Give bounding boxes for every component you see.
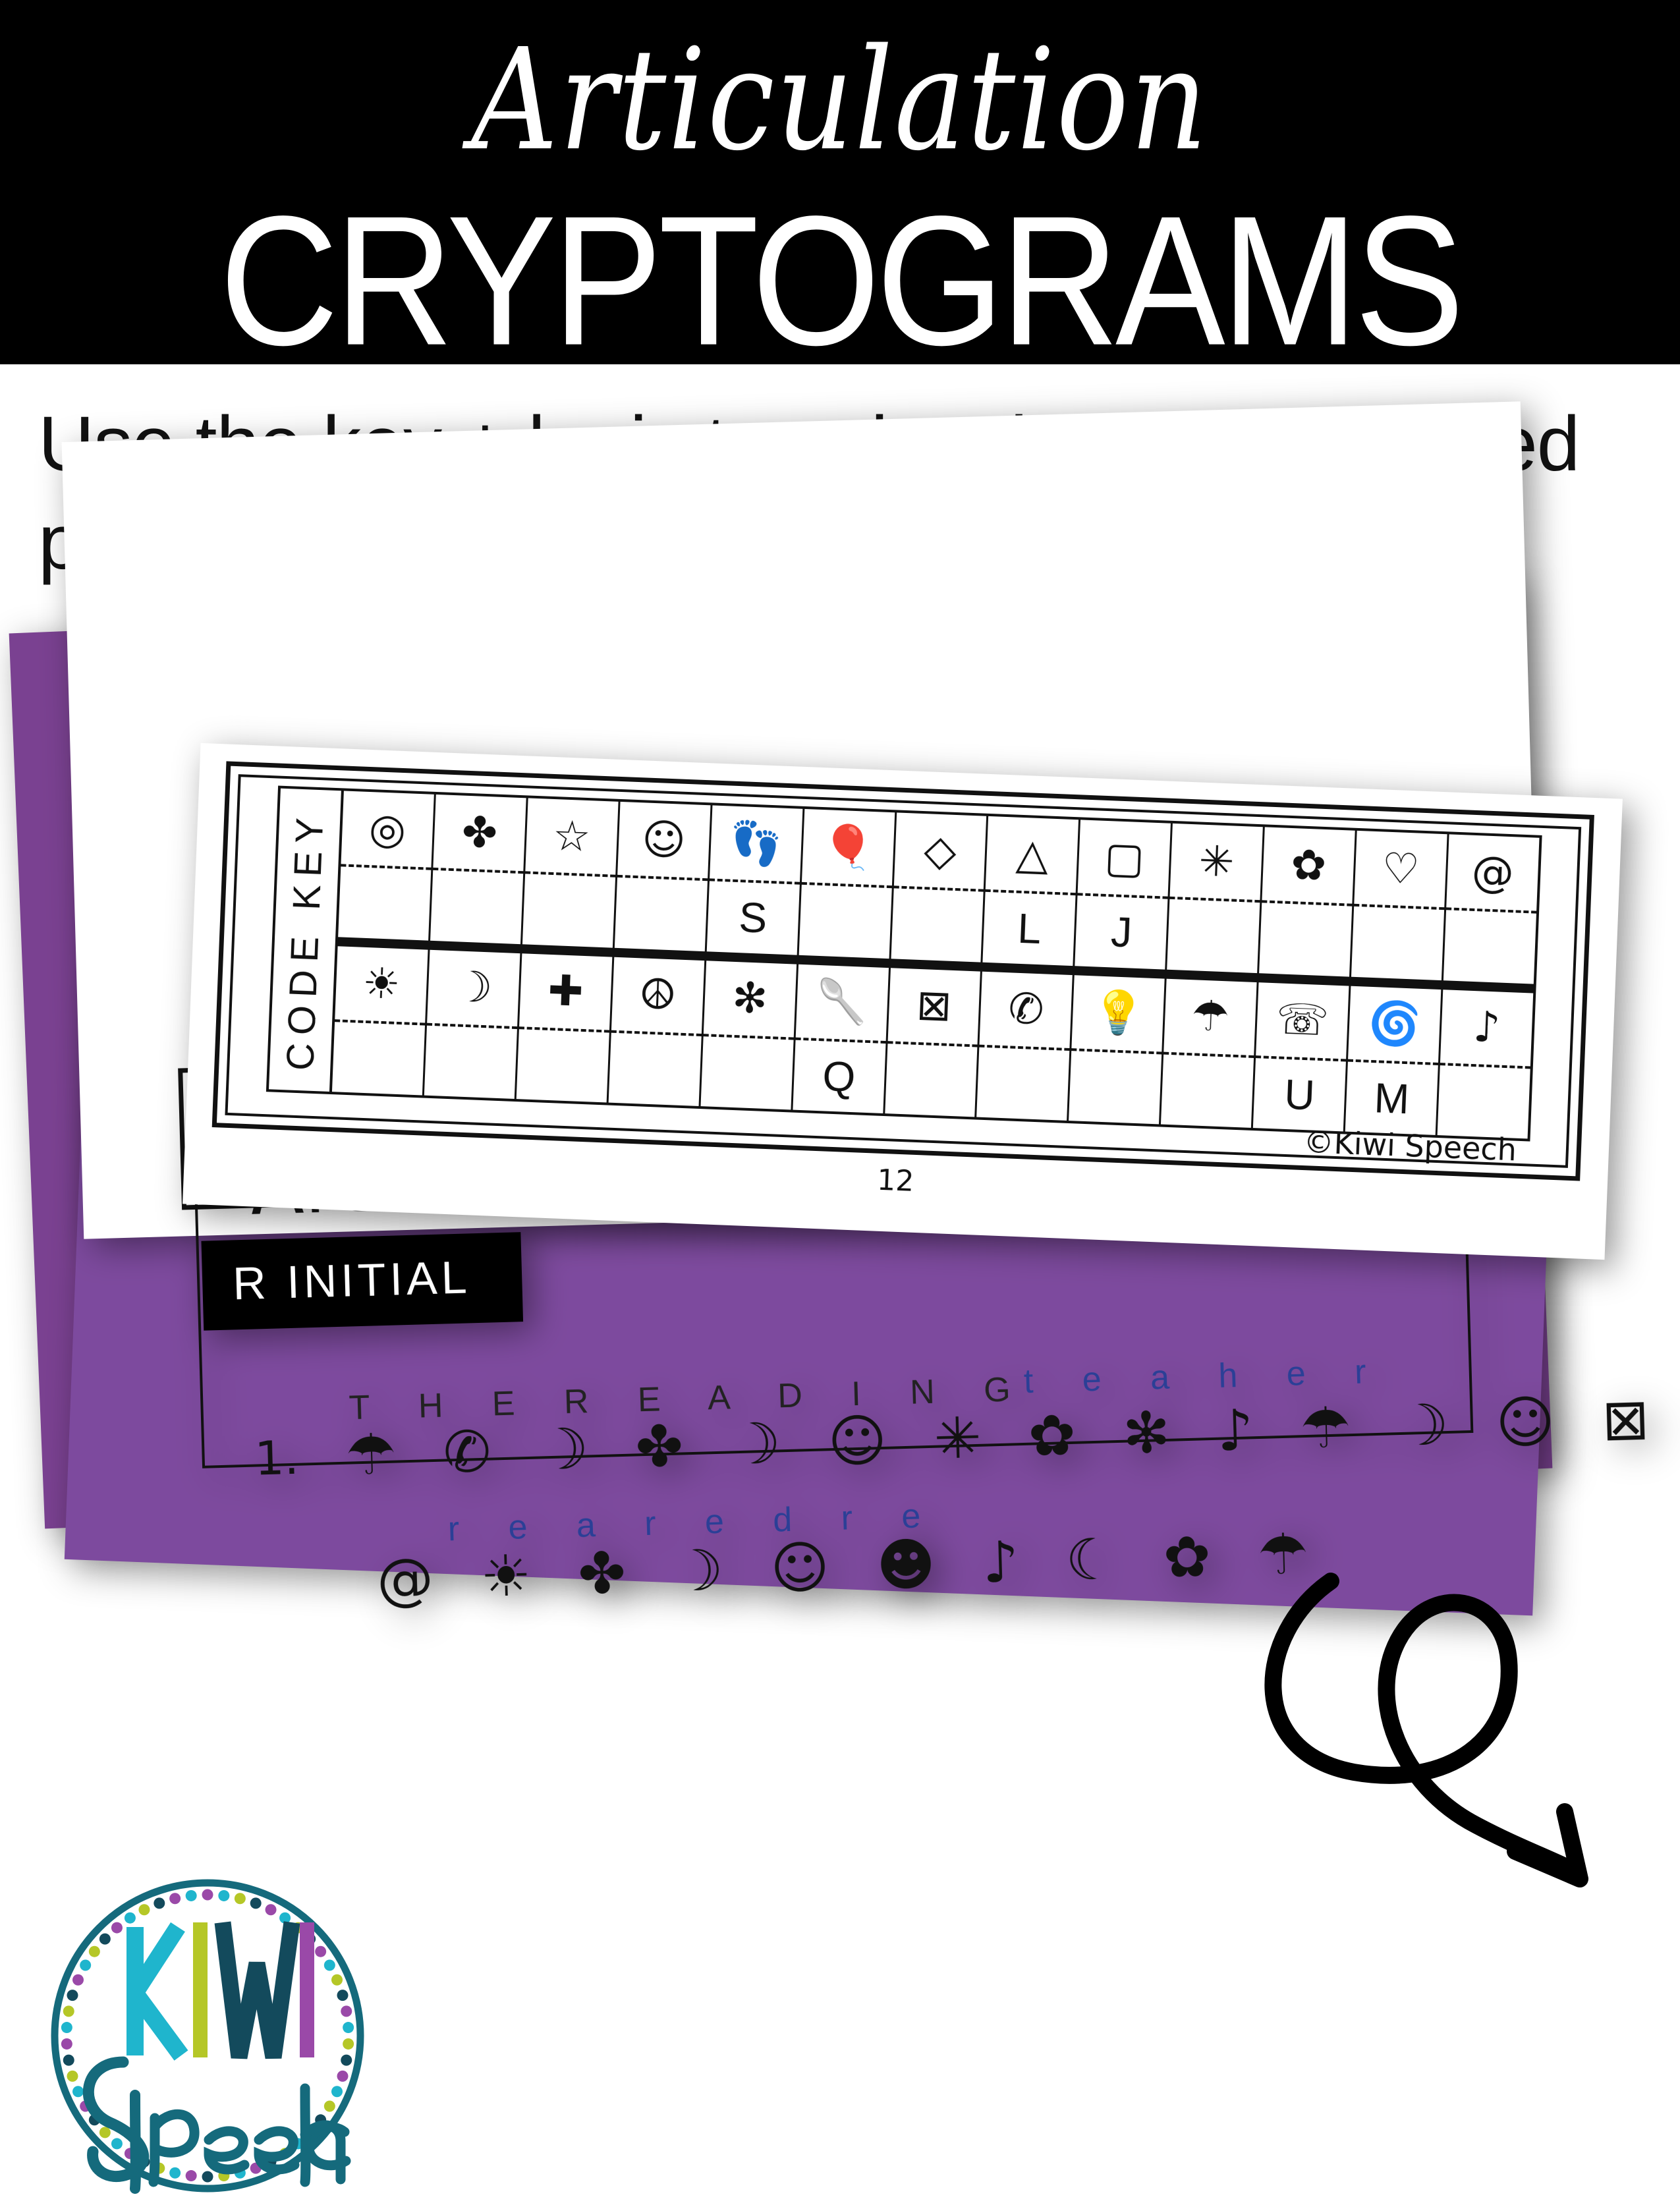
boxed-x-icon: ⊠ — [887, 968, 980, 1045]
code-key-cell[interactable]: 🥄Q — [793, 964, 891, 1113]
code-key-answer[interactable] — [615, 875, 708, 951]
code-key-cell[interactable]: 👣S — [706, 805, 804, 955]
code-key-cell[interactable]: ✻ — [700, 961, 798, 1110]
code-key-answer[interactable] — [1351, 904, 1444, 980]
triangle-icon: △ — [986, 816, 1078, 893]
code-key-answer[interactable] — [1069, 1048, 1162, 1124]
peace-icon: ☮ — [611, 957, 704, 1034]
code-key-answer[interactable] — [522, 872, 615, 947]
code-key-cell[interactable]: ✳ — [1167, 824, 1266, 973]
code-key-cell[interactable]: ☺ — [615, 802, 713, 951]
question-hook-icon: ☏ — [1256, 982, 1349, 1059]
code-key-cell[interactable]: ☽ — [424, 949, 522, 1099]
code-key-cell[interactable]: ✤ — [430, 795, 528, 944]
puzzle-item-number: 1. — [254, 1431, 300, 1486]
code-key-cell[interactable]: ☀ — [332, 946, 430, 1096]
flower-icon: ✿ — [1262, 827, 1355, 904]
footprint-icon: 👣 — [710, 805, 802, 882]
code-key-answer[interactable]: M — [1345, 1059, 1438, 1135]
code-key-answer[interactable] — [332, 1019, 425, 1095]
code-key-cell[interactable]: ▢J — [1075, 820, 1173, 969]
code-key-cell[interactable]: 🌀M — [1345, 986, 1443, 1135]
code-key-answer[interactable]: S — [706, 879, 799, 955]
star-icon: ☆ — [525, 798, 618, 875]
moon-icon: ☽ — [427, 949, 520, 1026]
code-key-label: CODE KEY — [266, 786, 341, 1094]
code-key-cell[interactable]: ♪ — [1438, 990, 1534, 1139]
code-key-answer[interactable] — [798, 882, 891, 958]
code-key-answer[interactable] — [1167, 897, 1260, 972]
code-key-answer[interactable] — [430, 868, 523, 943]
code-key-cell[interactable]: ☏U — [1253, 982, 1351, 1132]
code-key-answer[interactable] — [338, 864, 431, 940]
kiwi-speech-logo — [36, 1864, 379, 2207]
code-key-cell[interactable]: ✿ — [1259, 827, 1357, 976]
code-key-answer[interactable]: Q — [793, 1038, 885, 1113]
music-note-icon: ♪ — [1440, 990, 1533, 1067]
code-key-cell[interactable]: ☂ — [1161, 978, 1259, 1128]
code-key-grid: ◎✤☆☺👣S🎈◇△L▢J✳✿♡@ ☀☽✚☮✻🥄Q⊠✆💡☂☏U🌀M♪ — [329, 788, 1542, 1141]
leaf-icon: ✆ — [980, 971, 1073, 1048]
code-key-answer[interactable] — [891, 886, 984, 962]
code-key-table: CODE KEY ◎✤☆☺👣S🎈◇△L▢J✳✿♡@ ☀☽✚☮✻🥄Q⊠✆💡☂☏U🌀… — [266, 786, 1542, 1142]
code-key-answer[interactable] — [608, 1030, 701, 1106]
lightbulb-icon: 💡 — [1072, 975, 1165, 1052]
cross-icon: ✚ — [519, 953, 612, 1030]
code-key-answer[interactable] — [885, 1041, 978, 1117]
balloon-icon: 🎈 — [802, 809, 895, 886]
code-key-label-text: CODE KEY — [278, 809, 332, 1071]
spoon-icon: 🥄 — [795, 964, 888, 1041]
code-key-cell[interactable]: ✚ — [517, 953, 615, 1103]
code-key-cell[interactable]: ⊠ — [885, 968, 983, 1117]
code-key-answer[interactable] — [424, 1023, 517, 1099]
code-key-answer[interactable] — [1443, 908, 1536, 984]
heart-icon: ♡ — [1354, 831, 1447, 908]
header-band: Articulation CRYPTOGRAMS — [0, 0, 1680, 364]
square-icon: ▢ — [1078, 820, 1171, 897]
code-key-answer[interactable] — [1161, 1052, 1254, 1128]
script-title: Articulation — [34, 18, 1646, 182]
code-key-answer[interactable] — [977, 1045, 1070, 1121]
code-key-cell[interactable]: ☆ — [522, 798, 621, 947]
page-title: CRYPTOGRAMS — [0, 175, 1680, 364]
code-key-answer[interactable] — [517, 1026, 609, 1102]
code-key-page: CODE KEY ◎✤☆☺👣S🎈◇△L▢J✳✿♡@ ☀☽✚☮✻🥄Q⊠✆💡☂☏U🌀… — [182, 743, 1623, 1260]
code-key-cell[interactable]: ♡ — [1351, 831, 1449, 980]
asterisk-icon: ✳ — [1170, 824, 1263, 901]
code-key-cell[interactable]: 🎈 — [798, 809, 897, 959]
code-key-answer[interactable] — [700, 1034, 793, 1109]
code-key-cell[interactable]: 💡 — [1069, 975, 1167, 1125]
code-key-answer[interactable] — [1259, 901, 1352, 976]
umbrella-icon: ☂ — [1164, 978, 1257, 1055]
clover-icon: ✤ — [433, 795, 526, 872]
product-preview-stack: Articulation Cryptograms R INITIAL 1. T … — [0, 580, 1680, 1680]
sound-target-badge: R INITIAL — [201, 1232, 523, 1330]
code-key-cell[interactable]: ☮ — [608, 957, 706, 1106]
code-key-cell[interactable]: △L — [983, 816, 1081, 966]
code-key-cell[interactable]: ✆ — [977, 971, 1075, 1121]
code-key-cell[interactable]: ◎ — [338, 791, 436, 940]
code-key-cell[interactable]: @ — [1443, 834, 1540, 984]
code-key-answer[interactable] — [1438, 1063, 1530, 1138]
code-key-answer[interactable]: U — [1253, 1055, 1346, 1131]
tornado-icon: 🌀 — [1348, 986, 1441, 1063]
snowflake-icon: ✻ — [704, 961, 797, 1038]
smiley-icon: ☺ — [617, 802, 710, 879]
code-key-answer[interactable]: L — [983, 889, 1076, 965]
code-key-cell[interactable]: ◇ — [891, 812, 989, 962]
sun-icon: ☀ — [335, 946, 428, 1023]
code-key-answer[interactable]: J — [1075, 893, 1168, 969]
at-sign-icon: @ — [1446, 834, 1539, 911]
spiral-icon: ◎ — [341, 791, 434, 868]
diamond-icon: ◇ — [893, 812, 986, 889]
